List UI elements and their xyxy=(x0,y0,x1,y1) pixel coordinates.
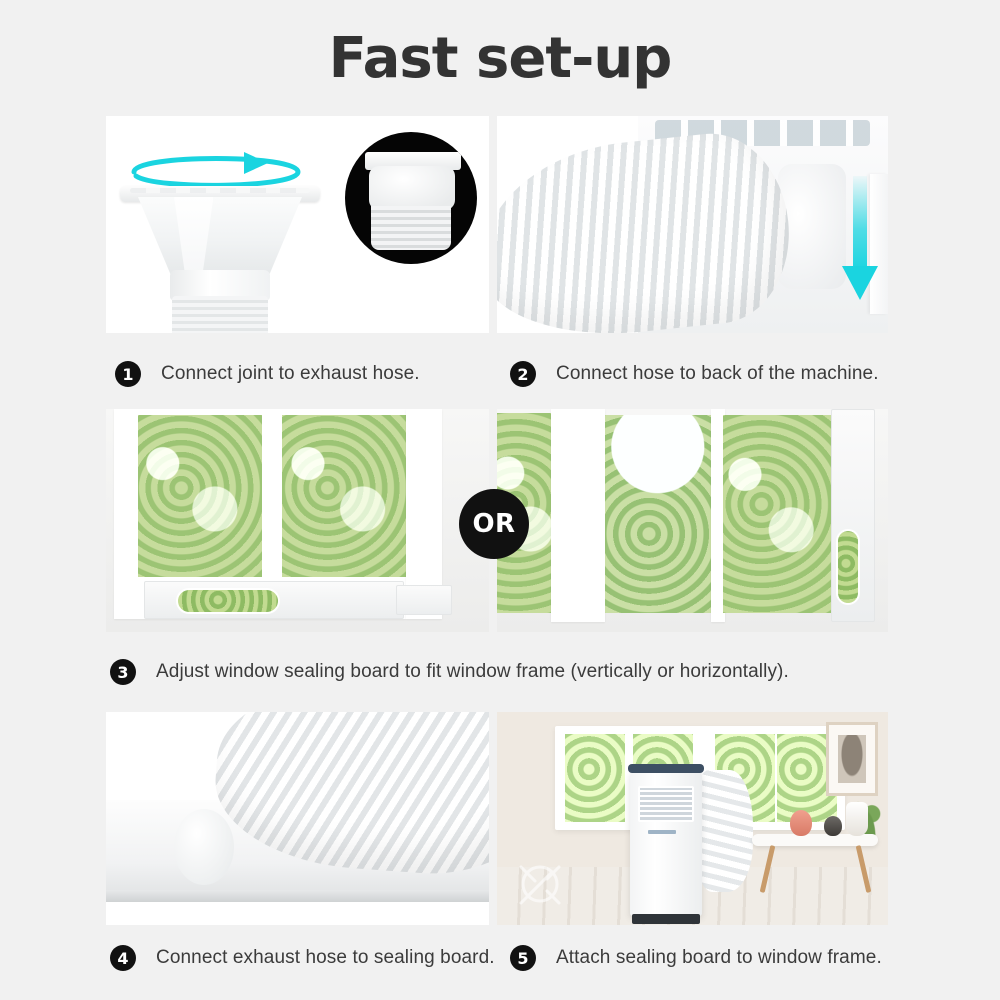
room-window-pane-1 xyxy=(565,734,625,822)
window-glass-left xyxy=(138,415,262,577)
step-4-image xyxy=(106,712,489,925)
step-caption-text: Attach sealing board to window frame. xyxy=(556,947,882,969)
step-5-caption: 5 Attach sealing board to window frame. xyxy=(510,945,882,971)
step-number-badge: 2 xyxy=(510,361,536,387)
vase-pink xyxy=(790,810,812,836)
joint-cone xyxy=(138,197,302,275)
step-number-badge: 5 xyxy=(510,945,536,971)
step-number-badge: 3 xyxy=(110,659,136,685)
step-1-image xyxy=(106,116,489,333)
step-3-image-vertical xyxy=(497,409,888,632)
ac-front-vent xyxy=(638,786,694,822)
sealing-board-edge xyxy=(106,890,489,902)
window-glass-right xyxy=(723,415,833,613)
exhaust-joint-illustration xyxy=(114,134,324,333)
step-number-badge: 1 xyxy=(115,361,141,387)
ac-base xyxy=(632,914,700,924)
step-5-image xyxy=(497,712,888,925)
step-caption-text: Connect joint to exhaust hose. xyxy=(161,363,420,385)
sealing-board-port xyxy=(838,531,858,603)
step-2-image xyxy=(497,116,888,333)
page-title: Fast set-up xyxy=(0,26,1000,91)
step-2-caption: 2 Connect hose to back of the machine. xyxy=(510,361,879,387)
step-1-caption: 1 Connect joint to exhaust hose. xyxy=(115,361,420,387)
window-frame-post xyxy=(551,409,605,622)
step-3-image-horizontal xyxy=(106,409,489,632)
exhaust-hose xyxy=(497,126,798,333)
step-caption-text: Adjust window sealing board to fit windo… xyxy=(156,661,789,683)
sealing-board-extension xyxy=(396,585,452,615)
window-glass-middle xyxy=(605,415,715,613)
step-caption-text: Connect exhaust hose to sealing board. xyxy=(156,947,495,969)
no-tools-required-icon xyxy=(509,853,571,915)
sealing-board-port xyxy=(178,590,278,612)
vase-white xyxy=(846,802,868,836)
sealing-board-port xyxy=(174,809,234,885)
joint-hose-end xyxy=(172,296,268,333)
zoom-inset-circle xyxy=(345,132,477,264)
vase-dark xyxy=(824,816,842,836)
inset-hose-ribs xyxy=(371,206,451,250)
or-badge: OR xyxy=(459,489,529,559)
portable-air-conditioner xyxy=(630,770,702,916)
step-number-badge: 4 xyxy=(110,945,136,971)
step-caption-text: Connect hose to back of the machine. xyxy=(556,363,879,385)
step-3-caption: 3 Adjust window sealing board to fit win… xyxy=(110,659,789,685)
inset-joint-body xyxy=(369,166,455,210)
down-arrow-icon xyxy=(840,176,880,306)
ac-brand-logo xyxy=(648,830,676,834)
window-glass-right xyxy=(282,415,412,577)
exhaust-hose-to-window xyxy=(695,770,753,892)
ac-control-panel xyxy=(628,764,704,773)
fast-setup-infographic: Fast set-up xyxy=(0,0,1000,1000)
wall-picture-frame xyxy=(826,722,878,796)
step-4-caption: 4 Connect exhaust hose to sealing board. xyxy=(110,945,495,971)
